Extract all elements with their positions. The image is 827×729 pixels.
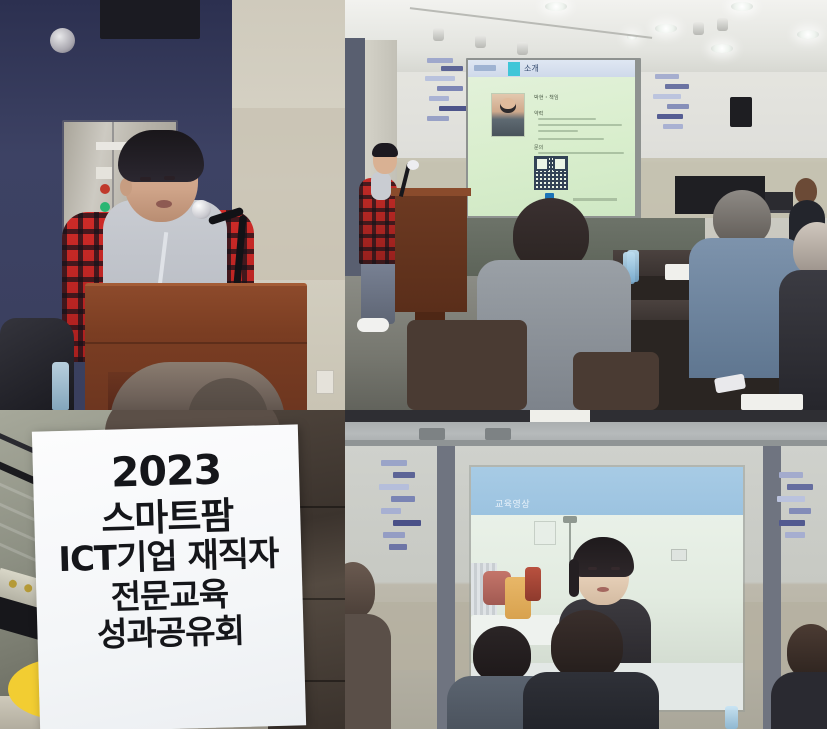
presenter-hair [372,143,398,157]
presenter-podium [395,192,467,312]
video-slide-title: 교육영상 [495,497,530,510]
interviewee-eye-right [611,567,620,570]
video-audience-right-body [771,672,827,729]
slide-accent-block [508,62,520,76]
track-spotlight-5 [717,18,728,31]
video-iv-pole [569,519,571,563]
video-audience-c-head [551,610,623,680]
panel-lecture-room-wide: 소개 박현・책임 약력 문의 [345,0,827,410]
video-audience-cl-head [473,626,531,682]
event-sign: 2023 스마트팜 ICT기업 재직자 전문교육 성과공유회 [32,424,306,729]
speaker-eye-left [140,177,151,181]
sign-line-ict: ICT기업 재직자 [58,536,279,579]
track-spotlight-2 [475,35,486,48]
ceiling-light-5 [797,30,819,39]
ceiling-light-2 [655,24,677,33]
video-wall-decor-right [775,470,825,590]
water-bottle-video-room [725,706,738,729]
chair-left [407,320,527,410]
video-audience-c-body [523,672,659,729]
slide-bullet-4 [538,138,604,140]
wall-speaker-box [730,97,752,127]
video-door [534,521,556,545]
top-paper-edge [530,410,590,422]
speaker-hair [118,130,204,182]
microphone-head-icon [192,200,211,219]
wall-decor-panel-right [651,72,703,144]
ceiling-speaker-box [100,0,200,39]
water-bottle [52,362,69,410]
slide-logo-icon [474,65,496,71]
slide-section-1: 약력 [534,110,543,117]
panel-speaker-at-podium [0,0,345,410]
panel-strip [96,167,112,179]
track-spotlight-1 [433,28,444,41]
presenter-hoodie [371,172,391,200]
slide-bullet-3 [538,130,578,132]
ceiling-light-1 [545,2,567,11]
panel-education-video-screen: 교육영상 갈증이 있었는데 접할 수 있어서 [345,410,827,729]
sign-line-sharing: 성과공유회 [97,613,245,652]
ceiling-light-4 [711,44,733,53]
presenter-shoes [357,318,389,332]
wall-outlet-icon [316,370,334,394]
screen-bracket-left [419,428,445,440]
slide-bullet-2 [538,124,622,126]
sign-line-smartfarm: 스마트팜 [101,496,234,539]
audience-3-jacket [779,270,827,410]
smoke-detector-icon [50,28,75,53]
interviewee-mouth [597,587,609,592]
slide-section-2: 문의 [534,144,543,151]
interviewee-eye-left [588,567,597,570]
video-chair-dark-red [525,567,541,601]
slide-name-line: 박현・책임 [534,94,559,101]
speaker-eye-right [164,176,175,180]
slide-bullet-1 [538,118,596,120]
video-audience-right-head [787,624,827,678]
slide-contact-line [538,152,624,154]
track-spotlight-3 [517,42,528,55]
presenter-microphone-head-icon [407,160,419,170]
ceiling-light-3 [731,2,753,11]
slide-title: 소개 [524,63,539,75]
sign-line-training: 전문교육 [110,576,228,615]
video-audience-left-body [345,614,391,729]
photo-collage: 소개 박현・책임 약력 문의 [0,0,827,729]
speaker-mouth [156,200,172,208]
handout-paper-front [741,394,803,410]
screen-bracket-right [485,428,511,440]
sign-line-year: 2023 [110,449,221,496]
chair-mid [573,352,659,410]
video-wall-decor-left [377,458,427,578]
audience-3-head [793,222,827,276]
slide-portrait-photo [491,93,525,137]
video-wall-switch-icon [671,549,687,561]
track-spotlight-4 [693,22,704,35]
qr-code-icon [534,156,568,190]
panel-event-standing-sign: 2023 스마트팜 ICT기업 재직자 전문교육 성과공유회 [0,410,345,729]
slide-footer-line [573,198,617,201]
panel-red-button-icon [100,184,110,194]
intro-slide: 소개 박현・책임 약력 문의 [468,60,635,216]
